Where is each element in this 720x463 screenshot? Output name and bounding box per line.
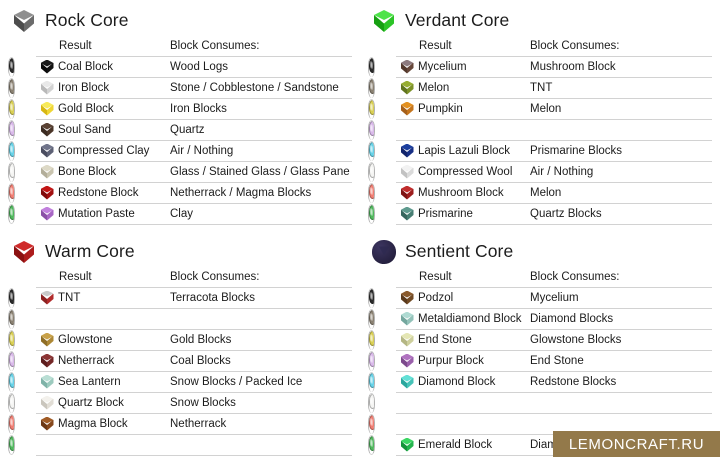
block-icon-cell [36,393,58,414]
block-icon-cell [396,99,418,120]
consumes-value: Air / Nothing [170,141,352,162]
table-row: PrismarineQuartz Blocks [368,204,712,225]
block-icon-cell [396,183,418,204]
rock-core-recipe-table: ResultBlock Consumes:Coal BlockWood Logs… [8,34,352,225]
result-name: Bone Block [58,162,170,183]
block-icon-cell [396,57,418,78]
consumes-value: Melon [530,183,712,204]
lapis-lazuli-block-icon [400,144,415,159]
consumes-value: Snow Blocks [170,393,352,414]
seed-icon [9,415,15,430]
table-row: End StoneGlowstone Blocks [368,330,712,351]
table-row [368,120,712,141]
rock-core-heading: Rock Core [0,0,360,34]
seed-icon [369,184,375,199]
table-header-row: ResultBlock Consumes: [368,265,712,288]
seed-icon [369,289,375,304]
result-name: Compressed Clay [58,141,170,162]
seed-icon [369,121,375,136]
block-icon-cell [36,57,58,78]
sentient-core-heading: Sentient Core [360,231,720,265]
block-icon-cell [36,120,58,141]
result-name: Podzol [418,288,530,309]
consumes-value: Melon [530,99,712,120]
result-name: Prismarine [418,204,530,225]
col-header-consumes: Block Consumes: [170,34,352,57]
sentient-core-title: Sentient Core [405,243,513,261]
seed-cell [8,162,15,182]
table-row [8,309,352,330]
consumes-value: Quartz [170,120,352,141]
seed-cell [368,330,375,350]
seed-icon [369,142,375,157]
block-icon-cell [396,435,418,456]
panel-sentient-core: Sentient CoreResultBlock Consumes:Podzol… [360,231,720,463]
block-icon-cell [36,78,58,99]
seed-cell [8,372,15,392]
consumes-value: TNT [530,78,712,99]
table-row: Lapis Lazuli BlockPrismarine Blocks [368,141,712,162]
sentient-core-recipe-table: ResultBlock Consumes:PodzolMyceliumMetal… [368,265,712,456]
seed-cell [8,288,15,308]
gold-block-icon [40,102,55,117]
block-icon-cell [36,204,58,225]
block-icon-cell [36,435,58,456]
seed-icon [9,436,15,451]
seed-icon [369,436,375,451]
table-row: Diamond BlockRedstone Blocks [368,372,712,393]
table-row: Magma BlockNetherrack [8,414,352,435]
seed-cell [8,204,15,224]
col-header-seed [368,265,396,288]
seed-icon [369,415,375,430]
consumes-value [530,120,712,141]
seed-icon [9,310,15,325]
table-row: Soul SandQuartz [8,120,352,141]
redstone-block-icon [40,186,55,201]
seed-icon [9,163,15,178]
end-stone-icon [400,333,415,348]
table-row [8,435,352,456]
podzol-icon [400,291,415,306]
seed-icon [9,184,15,199]
rock-core-title: Rock Core [45,12,129,30]
melon-icon [400,81,415,96]
compressed-wool-icon [400,165,415,180]
result-name: Lapis Lazuli Block [418,141,530,162]
quartz-block-icon [40,396,55,411]
seed-cell [8,78,15,98]
panel-warm-core: Warm CoreResultBlock Consumes:TNTTerraco… [0,231,360,463]
soul-sand-icon [40,123,55,138]
result-name [418,393,530,414]
consumes-value: Snow Blocks / Packed Ice [170,372,352,393]
seed-icon [9,373,15,388]
seed-icon [9,352,15,367]
warm-core-cube-icon [12,240,36,264]
block-icon-cell [36,288,58,309]
seed-cell [8,57,15,77]
seed-icon [9,289,15,304]
seed-icon [9,142,15,157]
consumes-value [170,309,352,330]
iron-block-icon [40,81,55,96]
col-header-seed [8,34,36,57]
result-name: TNT [58,288,170,309]
tnt-icon [40,291,55,306]
verdant-core-cube-icon [372,9,396,33]
block-icon-cell [36,162,58,183]
col-header-consumes: Block Consumes: [170,265,352,288]
seed-cell [368,120,375,140]
seed-icon [9,121,15,136]
consumes-value: Air / Nothing [530,162,712,183]
block-icon-cell [36,372,58,393]
block-icon-cell [36,330,58,351]
seed-icon [369,310,375,325]
block-icon-cell [396,162,418,183]
block-icon-cell [36,309,58,330]
col-header-block [36,34,58,57]
seed-cell [368,435,375,455]
consumes-value: Netherrack / Magma Blocks [170,183,352,204]
consumes-value: Coal Blocks [170,351,352,372]
block-icon-cell [396,204,418,225]
col-header-seed [368,34,396,57]
seed-cell [368,78,375,98]
consumes-value: Clay [170,204,352,225]
table-row: TNTTerracota Blocks [8,288,352,309]
seed-icon [369,205,375,220]
consumes-value: Redstone Blocks [530,372,712,393]
mycelium-icon [400,60,415,75]
result-name: Pumpkin [418,99,530,120]
result-name: Quartz Block [58,393,170,414]
block-icon-cell [396,78,418,99]
seed-cell [368,183,375,203]
seed-cell [8,414,15,434]
consumes-value: Stone / Cobblestone / Sandstone [170,78,352,99]
warm-core-recipe-table: ResultBlock Consumes:TNTTerracota Blocks… [8,265,352,456]
seed-cell [8,99,15,119]
warm-core-title: Warm Core [45,243,135,261]
result-name: Mutation Paste [58,204,170,225]
table-row: Compressed WoolAir / Nothing [368,162,712,183]
consumes-value: Glass / Stained Glass / Glass Pane [170,162,352,183]
consumes-value [170,435,352,456]
consumes-value: Terracota Blocks [170,288,352,309]
block-icon-cell [396,330,418,351]
consumes-value: Mushroom Block [530,57,712,78]
table-row [368,393,712,414]
consumes-value: Netherrack [170,414,352,435]
table-row: MelonTNT [368,78,712,99]
col-header-consumes: Block Consumes: [530,34,712,57]
warm-core-heading: Warm Core [0,231,360,265]
seed-icon [369,79,375,94]
block-icon-cell [396,309,418,330]
seed-cell [368,351,375,371]
core-recipe-grid: Rock CoreResultBlock Consumes:Coal Block… [0,0,720,463]
table-row: Mushroom BlockMelon [368,183,712,204]
seed-icon [9,100,15,115]
result-name: Gold Block [58,99,170,120]
result-name: Melon [418,78,530,99]
seed-cell [368,57,375,77]
result-name [58,309,170,330]
consumes-value: Iron Blocks [170,99,352,120]
seed-cell [368,99,375,119]
sea-lantern-icon [40,375,55,390]
table-row: Mutation PasteClay [8,204,352,225]
seed-cell [368,141,375,161]
block-icon-cell [396,120,418,141]
result-name: Netherrack [58,351,170,372]
panel-rock-core: Rock CoreResultBlock Consumes:Coal Block… [0,0,360,231]
seed-icon [369,331,375,346]
col-header-block [36,265,58,288]
table-row: GlowstoneGold Blocks [8,330,352,351]
block-icon-cell [36,141,58,162]
table-row: Quartz BlockSnow Blocks [8,393,352,414]
panel-verdant-core: Verdant CoreResultBlock Consumes:Myceliu… [360,0,720,231]
seed-cell [8,120,15,140]
seed-cell [368,288,375,308]
table-header-row: ResultBlock Consumes: [368,34,712,57]
result-name: Coal Block [58,57,170,78]
seed-cell [368,414,375,434]
result-name [58,435,170,456]
table-row: Coal BlockWood Logs [8,57,352,78]
result-name: Purpur Block [418,351,530,372]
table-row: Bone BlockGlass / Stained Glass / Glass … [8,162,352,183]
table-row: Purpur BlockEnd Stone [368,351,712,372]
sentient-core-orb-icon [372,240,396,264]
seed-cell [368,162,375,182]
consumes-value: Glowstone Blocks [530,330,712,351]
result-name [418,414,530,435]
seed-icon [9,79,15,94]
seed-icon [369,163,375,178]
col-header-result: Result [418,265,530,288]
table-row: PumpkinMelon [368,99,712,120]
consumes-value [530,393,712,414]
table-header-row: ResultBlock Consumes: [8,265,352,288]
consumes-value: Prismarine Blocks [530,141,712,162]
netherrack-icon [40,354,55,369]
block-icon-cell [396,393,418,414]
table-row: MyceliumMushroom Block [368,57,712,78]
seed-cell [8,351,15,371]
table-row: Gold BlockIron Blocks [8,99,352,120]
col-header-block [396,265,418,288]
col-header-seed [8,265,36,288]
table-row: Compressed ClayAir / Nothing [8,141,352,162]
result-name: Metaldiamond Block [418,309,530,330]
site-watermark: LEMONCRAFT.RU [553,431,720,457]
col-header-result: Result [418,34,530,57]
consumes-value: Wood Logs [170,57,352,78]
verdant-core-title: Verdant Core [405,12,509,30]
block-icon-cell [396,288,418,309]
seed-cell [8,435,15,455]
result-name [418,120,530,141]
emerald-block-icon [400,438,415,453]
seed-icon [9,58,15,73]
seed-cell [368,204,375,224]
col-header-result: Result [58,265,170,288]
magma-block-icon [40,417,55,432]
mutation-paste-icon [40,207,55,222]
seed-icon [369,394,375,409]
result-name: Compressed Wool [418,162,530,183]
consumes-value: End Stone [530,351,712,372]
seed-cell [8,183,15,203]
verdant-core-recipe-table: ResultBlock Consumes:MyceliumMushroom Bl… [368,34,712,225]
result-name: Iron Block [58,78,170,99]
seed-icon [369,352,375,367]
seed-icon [369,100,375,115]
block-icon-cell [36,183,58,204]
result-name: End Stone [418,330,530,351]
block-icon-cell [396,141,418,162]
result-name: Soul Sand [58,120,170,141]
glowstone-icon [40,333,55,348]
col-header-consumes: Block Consumes: [530,265,712,288]
pumpkin-icon [400,102,415,117]
table-row: NetherrackCoal Blocks [8,351,352,372]
seed-cell [368,309,375,329]
mushroom-block-icon [400,186,415,201]
seed-cell [8,393,15,413]
seed-icon [369,373,375,388]
verdant-core-heading: Verdant Core [360,0,720,34]
compressed-clay-icon [40,144,55,159]
consumes-value: Gold Blocks [170,330,352,351]
seed-icon [9,205,15,220]
prismarine-icon [400,207,415,222]
table-row: Iron BlockStone / Cobblestone / Sandston… [8,78,352,99]
result-name: Emerald Block [418,435,530,456]
seed-cell [8,330,15,350]
result-name: Mushroom Block [418,183,530,204]
seed-cell [368,393,375,413]
result-name: Glowstone [58,330,170,351]
col-header-block [396,34,418,57]
table-row: Sea LanternSnow Blocks / Packed Ice [8,372,352,393]
diamond-block-icon [400,375,415,390]
seed-cell [8,141,15,161]
result-name: Redstone Block [58,183,170,204]
coal-block-icon [40,60,55,75]
seed-icon [369,58,375,73]
result-name: Sea Lantern [58,372,170,393]
consumes-value: Mycelium [530,288,712,309]
result-name: Diamond Block [418,372,530,393]
block-icon-cell [36,99,58,120]
seed-icon [9,394,15,409]
seed-cell [368,372,375,392]
consumes-value: Diamond Blocks [530,309,712,330]
result-name: Mycelium [418,57,530,78]
table-row: PodzolMycelium [368,288,712,309]
seed-icon [9,331,15,346]
rock-core-cube-icon [12,9,36,33]
bone-block-icon [40,165,55,180]
seed-cell [8,309,15,329]
col-header-result: Result [58,34,170,57]
table-header-row: ResultBlock Consumes: [8,34,352,57]
metaldiamond-block-icon [400,312,415,327]
block-icon-cell [36,414,58,435]
consumes-value: Quartz Blocks [530,204,712,225]
purpur-block-icon [400,354,415,369]
block-icon-cell [36,351,58,372]
block-icon-cell [396,414,418,435]
block-icon-cell [396,372,418,393]
result-name: Magma Block [58,414,170,435]
block-icon-cell [396,351,418,372]
table-row: Metaldiamond BlockDiamond Blocks [368,309,712,330]
table-row: Redstone BlockNetherrack / Magma Blocks [8,183,352,204]
